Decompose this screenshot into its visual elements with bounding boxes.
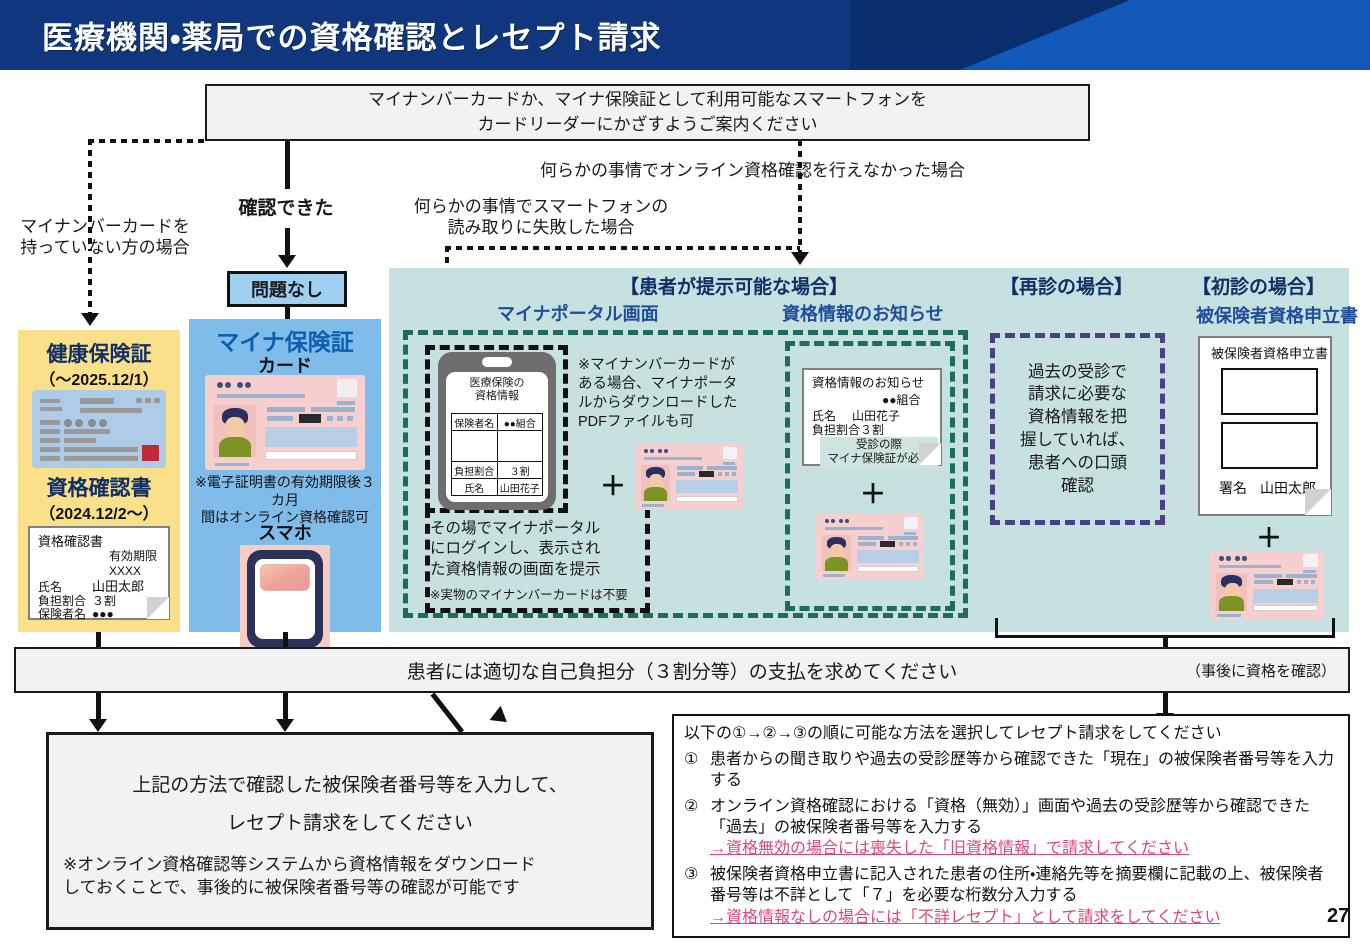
qualification-certificate-period: （2024.12/2～） — [18, 500, 180, 524]
mynaportal-mycard-illustration — [635, 444, 743, 510]
branch-center-line-top — [285, 141, 290, 189]
qc-insurer-value: ●●● — [92, 607, 114, 621]
branch-left-arrowhead — [81, 313, 99, 326]
list-item-warning: →資格無効の場合には喪失した「旧資格情報」で請求してください — [710, 838, 1338, 859]
revisit-oral-confirmation-box: 過去の受診で 請求に必要な 資格情報を把 握していれば、 患者への口頭 確認 — [990, 333, 1165, 525]
qc-folded-corner — [147, 597, 169, 619]
receipt-claim-box: 上記の方法で確認した被保険者番号等を入力して、 レセプト請求をしてください ※オ… — [46, 732, 654, 930]
insured-application-plus-sign: ＋ — [1256, 518, 1282, 555]
qc-name-value: 山田太郎 — [92, 579, 144, 594]
cell-label — [452, 431, 498, 462]
mynaportal-side-note: ※マイナンバーカードが ある場合、マイナポータ ルからダウンロードした PDFフ… — [578, 356, 768, 431]
qualification-certificate-title: 資格確認書 — [18, 472, 180, 502]
cell-label: 氏名 — [452, 479, 498, 496]
top-instruction-box: マイナンバーカードか、マイナ保険証として利用可能なスマートフォンを カードリーダ… — [205, 84, 1090, 141]
qualification-notice-doc: 資格情報のお知らせ ●●組合 氏名 山田花子 負担割合 ３割 受診の際 マイナ保… — [802, 368, 942, 466]
receipt-claim-note: ※オンライン資格確認等システムから資格情報をダウンロード しておくことで、事後的… — [63, 854, 637, 900]
qn-rate-value: ３割 — [860, 423, 884, 437]
mynaportal-info-table: 保険者名 ●●組合 負担割合 ３割 氏名 山田花子 — [451, 413, 543, 496]
bar-to-bottomleft-diagonal — [431, 692, 464, 733]
insured-application-doc: 被保険者資格申立書 署名 山田太郎 — [1198, 336, 1332, 516]
qc-expiry-value: XXXX — [109, 564, 141, 578]
ia-field-2 — [1221, 422, 1318, 469]
list-item: ③ 被保険者資格申立書に記入された患者の住所・連絡先等を摘要欄に記載の上、被保険… — [684, 864, 1338, 927]
no-problem-to-panel — [285, 307, 290, 319]
table-row: 氏名 山田花子 — [452, 479, 543, 496]
bar-to-bottomleft-arrow-2 — [276, 719, 294, 732]
table-row — [452, 431, 543, 462]
cell-value — [497, 431, 543, 462]
branch-center-line-bottom — [285, 228, 290, 257]
claim-method-heading: 以下の①→②→③の順に可能な方法を選択してレセプト請求をしてください — [684, 724, 1338, 745]
branch-left-dotted-h — [88, 139, 208, 143]
top-instruction-text: マイナンバーカードか、マイナ保険証として利用可能なスマートフォンを カードリーダ… — [368, 88, 927, 137]
list-item: ② オンライン資格確認における「資格（無効）」画面や過去の受診歴等から確認できた… — [684, 796, 1338, 859]
receipt-claim-line2: レセプト請求をしてください — [63, 812, 637, 836]
ia-heading: 被保険者資格申立書 — [1211, 346, 1328, 361]
ia-folded-corner — [1305, 489, 1331, 515]
cell-label: 保険者名 — [452, 414, 498, 431]
teal-to-bar-connector — [1163, 638, 1168, 647]
mynaportal-bottom-note-small: ※実物のマイナンバーカードは不要 — [430, 588, 650, 604]
bar-to-bottomleft-connector-2 — [283, 693, 288, 721]
cell-value: 山田花子 — [497, 479, 543, 496]
list-item-warning: →資格情報なしの場合には「不詳レセプト」として請求をしてください — [710, 907, 1338, 928]
qn-insurer: ●●組合 — [882, 393, 921, 407]
receipt-claim-line1: 上記の方法で確認した被保険者番号等を入力して、 — [63, 774, 637, 798]
list-item-text: オンライン資格確認における「資格（無効）」画面や過去の受診歴等から確認できた「過… — [710, 798, 1310, 836]
mynaportal-screen-title: マイナポータル画面 — [497, 300, 659, 326]
list-item-number: ① — [684, 749, 710, 791]
qc-heading: 資格確認書 — [38, 534, 103, 549]
list-item-number: ③ — [684, 864, 710, 927]
health-insurance-card-period: （～2025.12/1） — [18, 366, 180, 390]
cell-label: 負担割合 — [452, 462, 498, 479]
payment-post-verification-note: （事後に資格を確認） — [1186, 663, 1336, 682]
bar-to-bottomleft-connector-1 — [96, 693, 101, 721]
qn-name-value: 山田花子 — [852, 409, 900, 423]
page-number: 27 — [1327, 905, 1349, 928]
qualification-notice-plus-sign: ＋ — [860, 474, 886, 511]
slide-canvas: 医療機関・薬局での資格確認とレセプト請求 マイナンバーカードか、マイナ保険証とし… — [0, 0, 1370, 948]
qn-folded-corner — [919, 443, 941, 465]
no-problem-label: 問題なし — [251, 276, 323, 302]
list-item: ① 患者からの聞き取りや過去の受診歴等から確認できた「現在」の被保険者番号等を入… — [684, 749, 1338, 791]
bar-to-bottomleft-diagonal-head — [490, 706, 513, 729]
smartphone-subtitle: スマホ — [189, 519, 381, 545]
qn-rate-label: 負担割合 — [812, 423, 860, 437]
qn-heading: 資格情報のお知らせ — [812, 376, 924, 391]
online-fail-arrowhead — [791, 252, 809, 265]
smartphone-fail-dotted-h — [445, 246, 800, 250]
online-fail-dotted-v — [798, 140, 802, 255]
cell-value: ●●組合 — [497, 414, 543, 431]
qc-expiry-label: 有効期限 — [109, 549, 157, 563]
insured-application-title: 被保険者資格申立書 — [1196, 302, 1358, 328]
yellow-to-bar-connector — [96, 632, 101, 647]
insured-application-mycard-illustration — [1210, 551, 1324, 620]
branch-no-card-label: マイナンバーカードを 持っていない方の場合 — [0, 216, 210, 259]
mynaportal-table-heading: 医療保険の 資格情報 — [446, 377, 548, 403]
mynaportal-bottom-note: その場でマイナポータル にログインし、表示され た資格情報の画面を提示 — [430, 519, 646, 580]
table-row: 保険者名 ●●組合 — [452, 414, 543, 431]
bar-to-bottomright-connector — [1163, 693, 1168, 715]
branch-smartphone-fail-label: 何らかの事情でスマートフォンの 読み取りに失敗した場合 — [386, 196, 696, 239]
list-item-text: 被保険者資格申立書に記入された患者の住所・連絡先等を摘要欄に記載の上、被保険者番… — [710, 866, 1323, 904]
mynaportal-plus-sign: ＋ — [600, 466, 626, 503]
header-banner: 医療機関・薬局での資格確認とレセプト請求 — [0, 0, 1370, 70]
branch-center-arrowhead — [278, 255, 296, 268]
qn-name-label: 氏名 — [812, 409, 836, 423]
no-problem-box: 問題なし — [227, 271, 347, 307]
health-insurance-card-illustration — [32, 390, 166, 468]
cell-value: ３割 — [497, 462, 543, 479]
branch-online-fail-label: 何らかの事情でオンライン資格確認を行えなかった場合 — [540, 160, 1080, 181]
myna-insurance-panel: マイナ保険証 カード ※電子証 — [189, 319, 381, 632]
branch-confirmed-label: 確認できた — [222, 197, 350, 221]
health-insurance-card-title: 健康保険証 — [18, 338, 180, 368]
patient-can-present-heading: 【患者が提示可能な場合】 — [620, 272, 848, 299]
qc-insurer-label: 保険者名 — [38, 607, 86, 621]
payment-instruction-bar: 患者には適切な自己負担分（３割分等）の支払を求めてください （事後に資格を確認） — [14, 647, 1350, 693]
list-item-number: ② — [684, 796, 710, 859]
first-visit-heading: 【初診の場合】 — [1192, 272, 1325, 299]
qualification-notice-mycard-illustration — [816, 514, 924, 580]
bar-to-bottomleft-arrow-1 — [89, 719, 107, 732]
blue-to-bar-connector — [283, 632, 288, 647]
branch-left-dotted-v2 — [88, 257, 92, 315]
qualification-certificate-doc: 資格確認書 有効期限 XXXX 氏名 山田太郎 負担割合 ３割 保険者名 ●●● — [28, 526, 170, 620]
list-item-text: 患者からの聞き取りや過去の受診歴等から確認できた「現在」の被保険者番号等を入力す… — [710, 751, 1334, 789]
ia-field-1 — [1221, 368, 1318, 415]
qc-name-label: 氏名 — [38, 580, 62, 594]
revisit-heading: 【再診の場合】 — [1000, 272, 1133, 299]
mynaportal-phone-frame: 医療保険の 資格情報 保険者名 ●●組合 負担割合 ３割 — [438, 352, 556, 510]
post-verification-bracket — [995, 618, 1335, 640]
revisit-note: 過去の受診で 請求に必要な 資格情報を把 握していれば、 患者への口頭 確認 — [995, 361, 1160, 498]
my-number-card-illustration — [205, 375, 365, 470]
legacy-insurance-card-panel: 健康保険証 （～2025.12/1） 資格確認書 — [18, 330, 180, 632]
payment-instruction-text: 患者には適切な自己負担分（３割分等）の支払を求めてください — [407, 657, 957, 684]
qualification-notice-title: 資格情報のお知らせ — [782, 300, 944, 326]
table-row: 負担割合 ３割 — [452, 462, 543, 479]
claim-method-list-box: 以下の①→②→③の順に可能な方法を選択してレセプト請求をしてください ① 患者か… — [672, 714, 1350, 938]
ia-sign-label: 署名 — [1219, 480, 1247, 497]
page-title: 医療機関・薬局での資格確認とレセプト請求 — [42, 13, 662, 58]
